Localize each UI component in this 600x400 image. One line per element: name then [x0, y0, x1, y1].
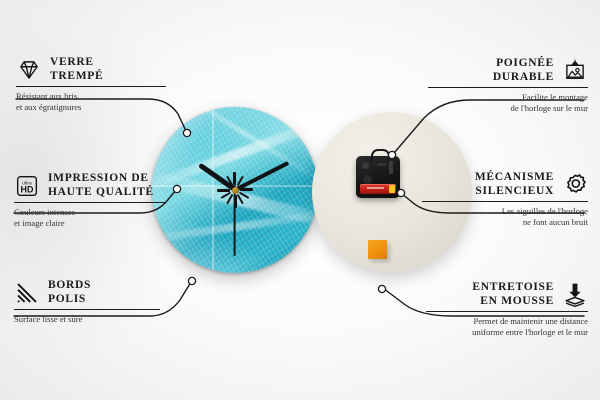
title-rule	[14, 202, 166, 203]
feature-mecanisme-silencieux: MÉCANISME SILENCIEUX Les aiguilles de l'…	[422, 171, 588, 227]
ultra-hd-icon: ultra HD	[14, 173, 40, 199]
feature-subtitle: Facilite le montage de l'horloge sur le …	[428, 92, 588, 113]
diamond-icon	[16, 57, 42, 83]
feature-subtitle: Couleurs intenses et image claire	[14, 207, 174, 228]
svg-text:HD: HD	[21, 184, 34, 194]
feature-title: POIGNÉE DURABLE	[493, 57, 554, 84]
feature-bords-polis: BORDS POLIS Surface lisse et sûre	[14, 279, 164, 325]
title-rule	[428, 87, 588, 88]
feature-title: ENTRETOISE EN MOUSSE	[472, 281, 554, 308]
gear-icon	[562, 172, 588, 198]
feature-impression-haute-qualite: ultra HD IMPRESSION DE HAUTE QUALITÉ Cou…	[14, 172, 174, 228]
feature-poignee-durable: POIGNÉE DURABLE Facilite le montage de l…	[428, 57, 588, 113]
clock-tick	[235, 189, 318, 191]
feature-subtitle: Les aiguilles de l'horloge ne font aucun…	[422, 206, 588, 227]
feature-title: MÉCANISME SILENCIEUX	[475, 171, 554, 198]
feature-subtitle: Résistant aux bris et aux égratignures	[16, 91, 166, 112]
clock-center-cap	[232, 187, 239, 194]
polished-edge-icon	[14, 280, 40, 306]
feature-title: BORDS POLIS	[48, 279, 91, 306]
press-layers-icon	[562, 282, 588, 308]
title-rule	[14, 309, 160, 310]
title-rule	[16, 86, 166, 87]
hanger-loop	[371, 149, 390, 162]
foam-spacer	[368, 240, 387, 259]
feature-title: VERRE TREMPÉ	[50, 56, 103, 83]
feature-title: IMPRESSION DE HAUTE QUALITÉ	[48, 172, 154, 199]
feature-entretoise-en-mousse: ENTRETOISE EN MOUSSE Permet de maintenir…	[426, 281, 588, 337]
picture-hanger-icon	[562, 58, 588, 84]
feature-verre-trempe: VERRE TREMPÉ Résistant aux bris et aux é…	[16, 56, 166, 112]
clock-mechanism	[356, 156, 400, 198]
title-rule	[426, 311, 588, 312]
connector-dot-entretoise	[378, 285, 385, 292]
title-rule	[422, 201, 588, 202]
clock-front-view	[152, 107, 318, 273]
second-hand	[234, 190, 236, 256]
feature-subtitle: Surface lisse et sûre	[14, 314, 164, 325]
connector-dot-bords-polis	[188, 277, 195, 284]
infographic-canvas: VERRE TREMPÉ Résistant aux bris et aux é…	[0, 0, 600, 400]
feature-subtitle: Permet de maintenir une distance uniform…	[426, 316, 588, 337]
battery	[360, 184, 396, 194]
